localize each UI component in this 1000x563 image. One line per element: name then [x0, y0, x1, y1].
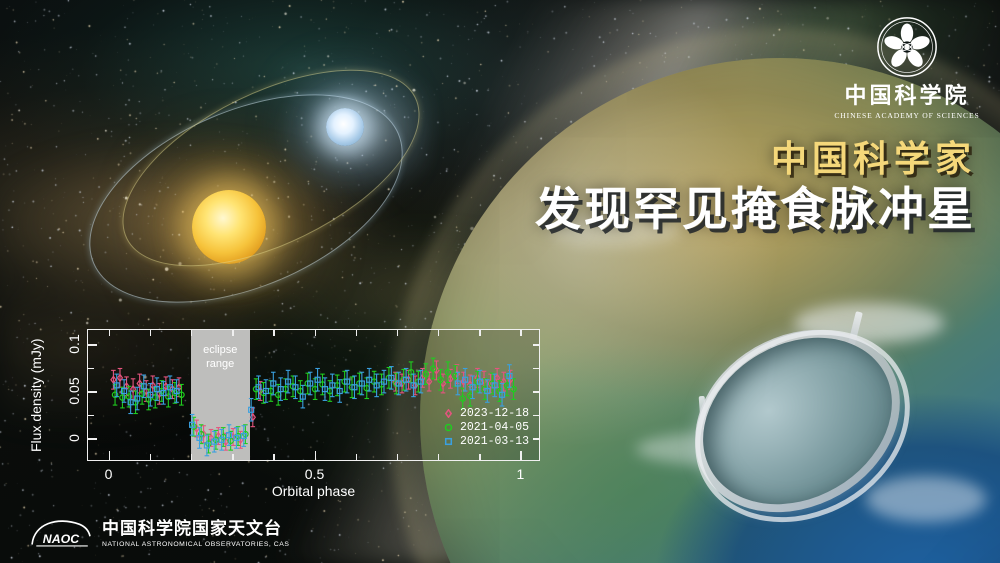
pulsar-neutron-star	[326, 108, 364, 146]
axis-tick	[356, 330, 357, 336]
legend-label: 2021-03-13	[460, 435, 529, 448]
naoc-logo: NAOC 中国科学院国家天文台 NATIONAL ASTRONOMICAL OB…	[30, 514, 289, 548]
y-axis-title: Flux density (mJy)	[28, 329, 44, 461]
axis-tick	[273, 454, 274, 460]
axis-tick	[520, 451, 521, 460]
naoc-name-en: NATIONAL ASTRONOMICAL OBSERVATORIES, CAS	[102, 541, 289, 548]
x-tick-label: 1	[517, 466, 525, 482]
legend-marker-diamond-icon	[444, 409, 453, 418]
cas-name-cn: 中国科学院	[832, 84, 982, 108]
legend-marker-square-icon	[444, 437, 453, 446]
cas-name-en: CHINESE ACADEMY OF SCIENCES	[832, 111, 982, 120]
legend-item: 2021-03-13	[444, 434, 529, 448]
cas-flower-seal-icon	[876, 16, 938, 78]
naoc-wordmark: NAOC	[43, 532, 80, 546]
axis-tick	[356, 454, 357, 460]
legend-item: 2023-12-18	[444, 406, 529, 420]
axis-tick	[533, 344, 539, 345]
light-curve-chart: eclipse range 00.51 00.050.1 2023-12-182…	[87, 329, 540, 461]
axis-tick	[150, 330, 151, 336]
axis-tick	[150, 454, 151, 460]
axis-tick	[88, 368, 94, 369]
headline-top: 中国科学家	[535, 138, 976, 179]
axis-tick	[88, 415, 94, 416]
naoc-name-cn: 中国科学院国家天文台	[102, 514, 289, 539]
axis-tick	[315, 330, 316, 336]
axis-tick	[232, 454, 233, 460]
naoc-text-block: 中国科学院国家天文台 NATIONAL ASTRONOMICAL OBSERVA…	[102, 514, 289, 548]
axis-tick	[88, 344, 97, 345]
axis-tick	[533, 368, 539, 369]
y-tick-label: 0.1	[66, 334, 82, 353]
axis-tick	[438, 454, 439, 460]
axis-tick	[533, 415, 539, 416]
x-axis-title: Orbital phase	[87, 483, 540, 499]
naoc-mark-icon: NAOC	[30, 514, 92, 548]
y-tick-label: 0.05	[66, 378, 82, 405]
axis-tick	[191, 330, 192, 336]
axis-tick	[520, 330, 521, 336]
axis-tick	[273, 330, 274, 336]
axis-tick	[191, 454, 192, 460]
legend-label: 2023-12-18	[460, 407, 529, 420]
axis-tick	[88, 391, 97, 392]
axis-tick	[438, 330, 439, 336]
x-tick-label: 0.5	[305, 466, 324, 482]
axis-tick	[533, 438, 539, 439]
cas-logo: 中国科学院 CHINESE ACADEMY OF SCIENCES	[832, 16, 982, 120]
axis-tick	[109, 330, 110, 336]
binary-star-illustration	[70, 70, 450, 330]
poster-canvas: 中国科学院 CHINESE ACADEMY OF SCIENCES 中国科学家 …	[0, 0, 1000, 563]
legend-item: 2021-04-05	[444, 420, 529, 434]
axis-tick	[109, 451, 110, 460]
headline-main: 发现罕见掩食脉冲星	[535, 183, 976, 236]
axis-tick	[533, 391, 539, 392]
fast-radio-telescope	[690, 318, 930, 533]
axis-tick	[479, 454, 480, 460]
x-tick-label: 0	[105, 466, 113, 482]
headline-block: 中国科学家 发现罕见掩食脉冲星	[535, 138, 976, 236]
legend-label: 2021-04-05	[460, 421, 529, 434]
legend-marker-circle-icon	[444, 423, 453, 432]
axis-tick	[315, 451, 316, 460]
y-tick-label: 0	[66, 435, 82, 443]
axis-tick	[397, 330, 398, 336]
chart-legend: 2023-12-182021-04-052021-03-13	[444, 406, 529, 448]
telescope-dish-rim	[660, 292, 945, 560]
axis-tick	[479, 330, 480, 336]
axis-tick	[232, 330, 233, 336]
axis-tick	[397, 454, 398, 460]
axis-tick	[88, 438, 97, 439]
